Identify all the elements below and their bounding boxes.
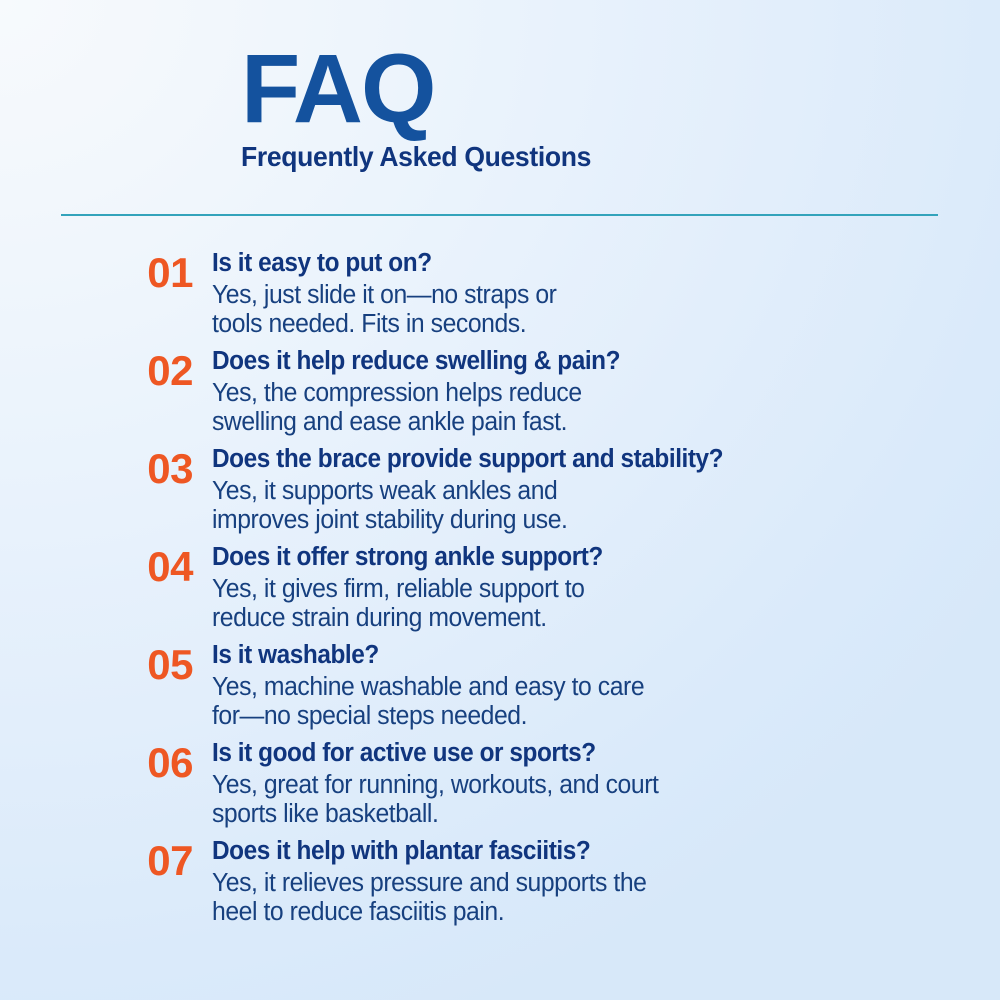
faq-content: Is it easy to put on?Yes, just slide it …: [212, 249, 1000, 339]
faq-answer: Yes, it supports weak ankles and improve…: [212, 477, 976, 535]
faq-answer: Yes, the compression helps reduce swelli…: [212, 379, 976, 437]
faq-item[interactable]: 01Is it easy to put on?Yes, just slide i…: [0, 249, 1000, 347]
faq-item[interactable]: 02Does it help reduce swelling & pain?Ye…: [0, 347, 1000, 445]
faq-number: 02: [0, 347, 212, 392]
faq-question: Is it washable?: [212, 641, 965, 671]
faq-number: 01: [0, 249, 212, 294]
faq-question: Does it help with plantar fasciitis?: [212, 837, 965, 867]
faq-answer: Yes, just slide it on—no straps or tools…: [212, 281, 976, 339]
faq-item[interactable]: 04Does it offer strong ankle support?Yes…: [0, 543, 1000, 641]
faq-item[interactable]: 07Does it help with plantar fasciitis?Ye…: [0, 837, 1000, 935]
faq-number: 03: [0, 445, 212, 490]
faq-content: Is it good for active use or sports?Yes,…: [212, 739, 1000, 829]
faq-content: Does it help with plantar fasciitis?Yes,…: [212, 837, 1000, 927]
page-title: FAQ: [241, 44, 961, 133]
faq-item[interactable]: 06Is it good for active use or sports?Ye…: [0, 739, 1000, 837]
faq-question: Is it good for active use or sports?: [212, 739, 965, 769]
faq-number: 05: [0, 641, 212, 686]
faq-list: 01Is it easy to put on?Yes, just slide i…: [0, 249, 1000, 935]
faq-question: Does it help reduce swelling & pain?: [212, 347, 965, 377]
faq-page: FAQ Frequently Asked Questions 01Is it e…: [0, 0, 1000, 1000]
faq-answer: Yes, great for running, workouts, and co…: [212, 771, 976, 829]
faq-answer: Yes, it relieves pressure and supports t…: [212, 869, 976, 927]
faq-number: 04: [0, 543, 212, 588]
faq-number: 07: [0, 837, 212, 882]
page-subtitle: Frequently Asked Questions: [241, 142, 936, 172]
faq-item[interactable]: 03Does the brace provide support and sta…: [0, 445, 1000, 543]
faq-number: 06: [0, 739, 212, 784]
faq-answer: Yes, it gives firm, reliable support to …: [212, 575, 976, 633]
header-divider: [61, 214, 938, 216]
faq-content: Does it help reduce swelling & pain?Yes,…: [212, 347, 1000, 437]
header: FAQ Frequently Asked Questions: [241, 44, 961, 172]
faq-content: Does it offer strong ankle support?Yes, …: [212, 543, 1000, 633]
faq-content: Is it washable?Yes, machine washable and…: [212, 641, 1000, 731]
faq-question: Does it offer strong ankle support?: [212, 543, 965, 573]
faq-question: Is it easy to put on?: [212, 249, 965, 279]
faq-item[interactable]: 05Is it washable?Yes, machine washable a…: [0, 641, 1000, 739]
faq-question: Does the brace provide support and stabi…: [212, 445, 965, 475]
faq-answer: Yes, machine washable and easy to care f…: [212, 673, 976, 731]
faq-content: Does the brace provide support and stabi…: [212, 445, 1000, 535]
